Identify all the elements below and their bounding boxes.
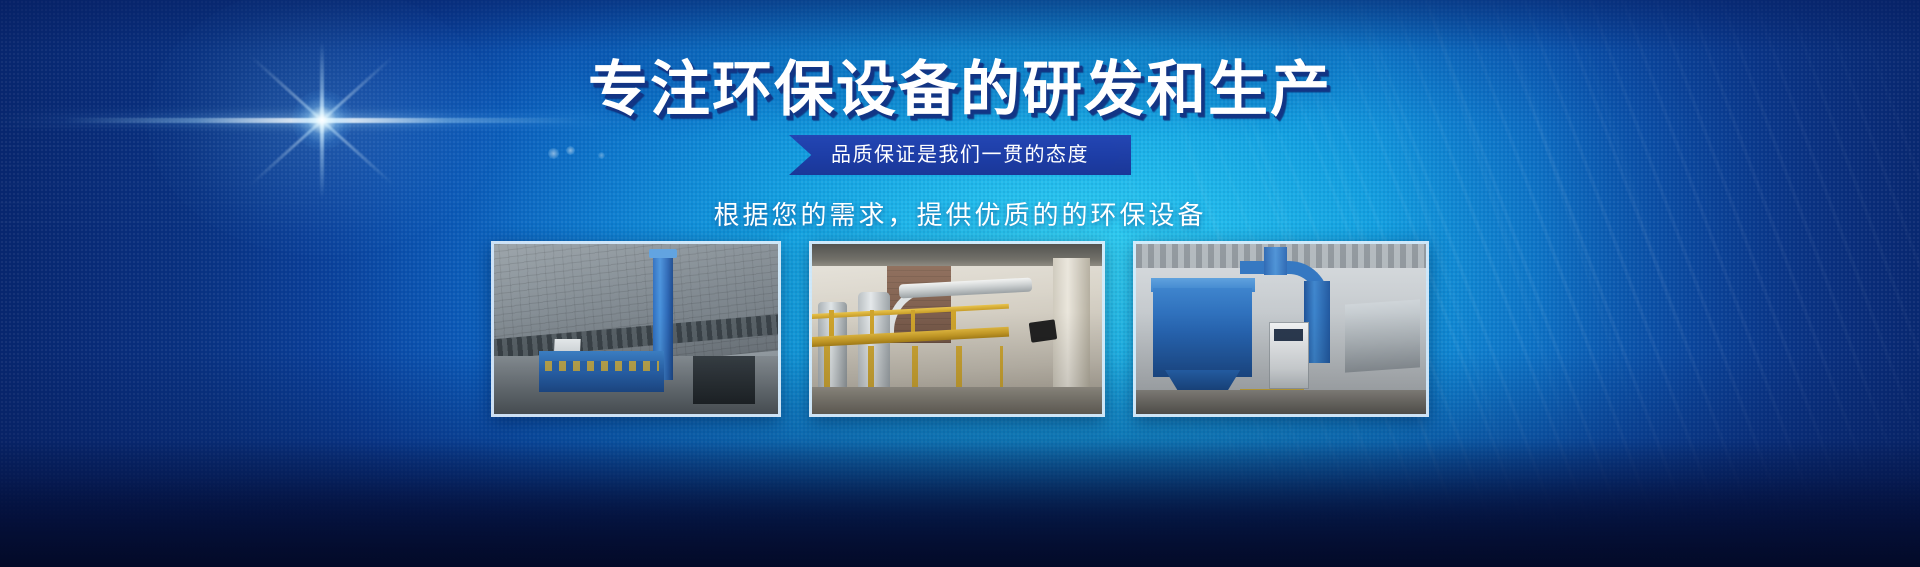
photo3-grey-tank [1345,299,1420,372]
photo2-right-column [1053,258,1091,401]
photo1-blue-unit [539,351,664,392]
photo3-floor [1136,390,1426,414]
photo-cyclone-cabinet[interactable] [1133,241,1429,417]
banner-content: 专注环保设备的研发和生产 品质保证是我们一贯的态度 根据您的需求，提供优质的的环… [0,0,1920,232]
banner-subline: 根据您的需求，提供优质的的环保设备 [0,175,1920,232]
photo3-cabinet-panel [1274,329,1303,341]
quality-promise-ribbon: 品质保证是我们一贯的态度 [789,135,1131,175]
photo1-stack-cap [649,249,677,258]
photo2-floor [812,387,1102,414]
photo-warehouse-exhaust[interactable] [491,241,781,417]
background-bottom-vignette [0,437,1920,567]
photo3-riser-pipe [1264,247,1287,274]
photo-warehouse-exhaust-image [494,244,778,414]
banner-headline: 专注环保设备的研发和生产 [0,0,1920,121]
photo-platform-ducting-image [812,244,1102,414]
photo2-wall-lamp [1028,319,1057,343]
photo-strip [491,241,1429,417]
photo1-unit-vents [545,361,659,371]
photo1-shadow-area [693,356,755,404]
photo-platform-ducting[interactable] [809,241,1105,417]
photo3-collector-body [1153,288,1252,376]
ribbon-label: 品质保证是我们一贯的态度 [831,144,1089,166]
photo2-rail-post [829,310,833,337]
photo-cyclone-cabinet-image [1136,244,1426,414]
ribbon-row: 品质保证是我们一贯的态度 [0,135,1920,175]
promo-banner: 专注环保设备的研发和生产 品质保证是我们一贯的态度 根据您的需求，提供优质的的环… [0,0,1920,567]
